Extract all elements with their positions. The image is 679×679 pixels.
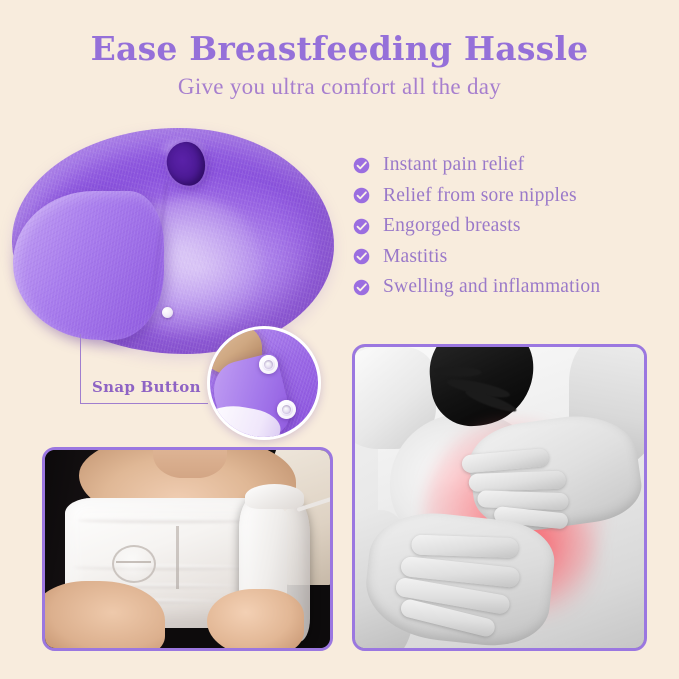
snap-button-top bbox=[259, 355, 278, 374]
hand-holding-pump bbox=[207, 589, 304, 651]
product-image-breast-pad bbox=[8, 126, 338, 358]
snap-button-closeup-inset bbox=[207, 326, 321, 440]
benefit-item: Swelling and inflammation bbox=[353, 272, 673, 303]
check-circle-icon bbox=[353, 279, 370, 296]
page-title: Ease Breastfeeding Hassle bbox=[0, 29, 679, 68]
benefit-item: Mastitis bbox=[353, 242, 673, 273]
pumping-bra-photo bbox=[42, 447, 333, 651]
breast-pain-scene bbox=[355, 347, 644, 648]
benefit-label: Relief from sore nipples bbox=[383, 185, 577, 207]
bra-zipper bbox=[176, 526, 179, 589]
check-circle-icon bbox=[353, 157, 370, 174]
pad-flap-fur-texture bbox=[13, 191, 164, 340]
finger bbox=[410, 534, 518, 558]
pad-snap-button bbox=[162, 307, 173, 318]
benefit-label: Mastitis bbox=[383, 246, 447, 268]
benefit-item: Relief from sore nipples bbox=[353, 181, 673, 212]
snap-button-bottom bbox=[277, 400, 296, 419]
check-circle-icon bbox=[353, 248, 370, 265]
pad-body bbox=[12, 128, 334, 354]
benefit-label: Engorged breasts bbox=[383, 215, 521, 237]
benefit-label: Swelling and inflammation bbox=[383, 276, 600, 298]
breast-pain-photo bbox=[352, 344, 647, 651]
check-circle-icon bbox=[353, 218, 370, 235]
bra-fold bbox=[78, 518, 265, 523]
pad-overlap-flap bbox=[13, 191, 164, 340]
finger bbox=[461, 448, 549, 474]
product-infographic: Ease Breastfeeding Hassle Give you ultra… bbox=[0, 0, 679, 679]
benefit-item: Engorged breasts bbox=[353, 211, 673, 242]
benefit-label: Instant pain relief bbox=[383, 154, 524, 176]
snap-button-callout-label: Snap Button bbox=[92, 378, 201, 396]
pumping-bra-scene bbox=[45, 450, 330, 648]
benefit-item: Instant pain relief bbox=[353, 150, 673, 181]
bra-pump-opening bbox=[112, 545, 156, 583]
breast-pump-flange bbox=[245, 484, 305, 510]
bra-fold bbox=[74, 565, 252, 570]
hair-strand bbox=[434, 366, 482, 378]
benefits-list: Instant pain relief Relief from sore nip… bbox=[353, 150, 673, 303]
page-subtitle: Give you ultra comfort all the day bbox=[0, 74, 679, 100]
check-circle-icon bbox=[353, 187, 370, 204]
finger bbox=[468, 471, 566, 493]
